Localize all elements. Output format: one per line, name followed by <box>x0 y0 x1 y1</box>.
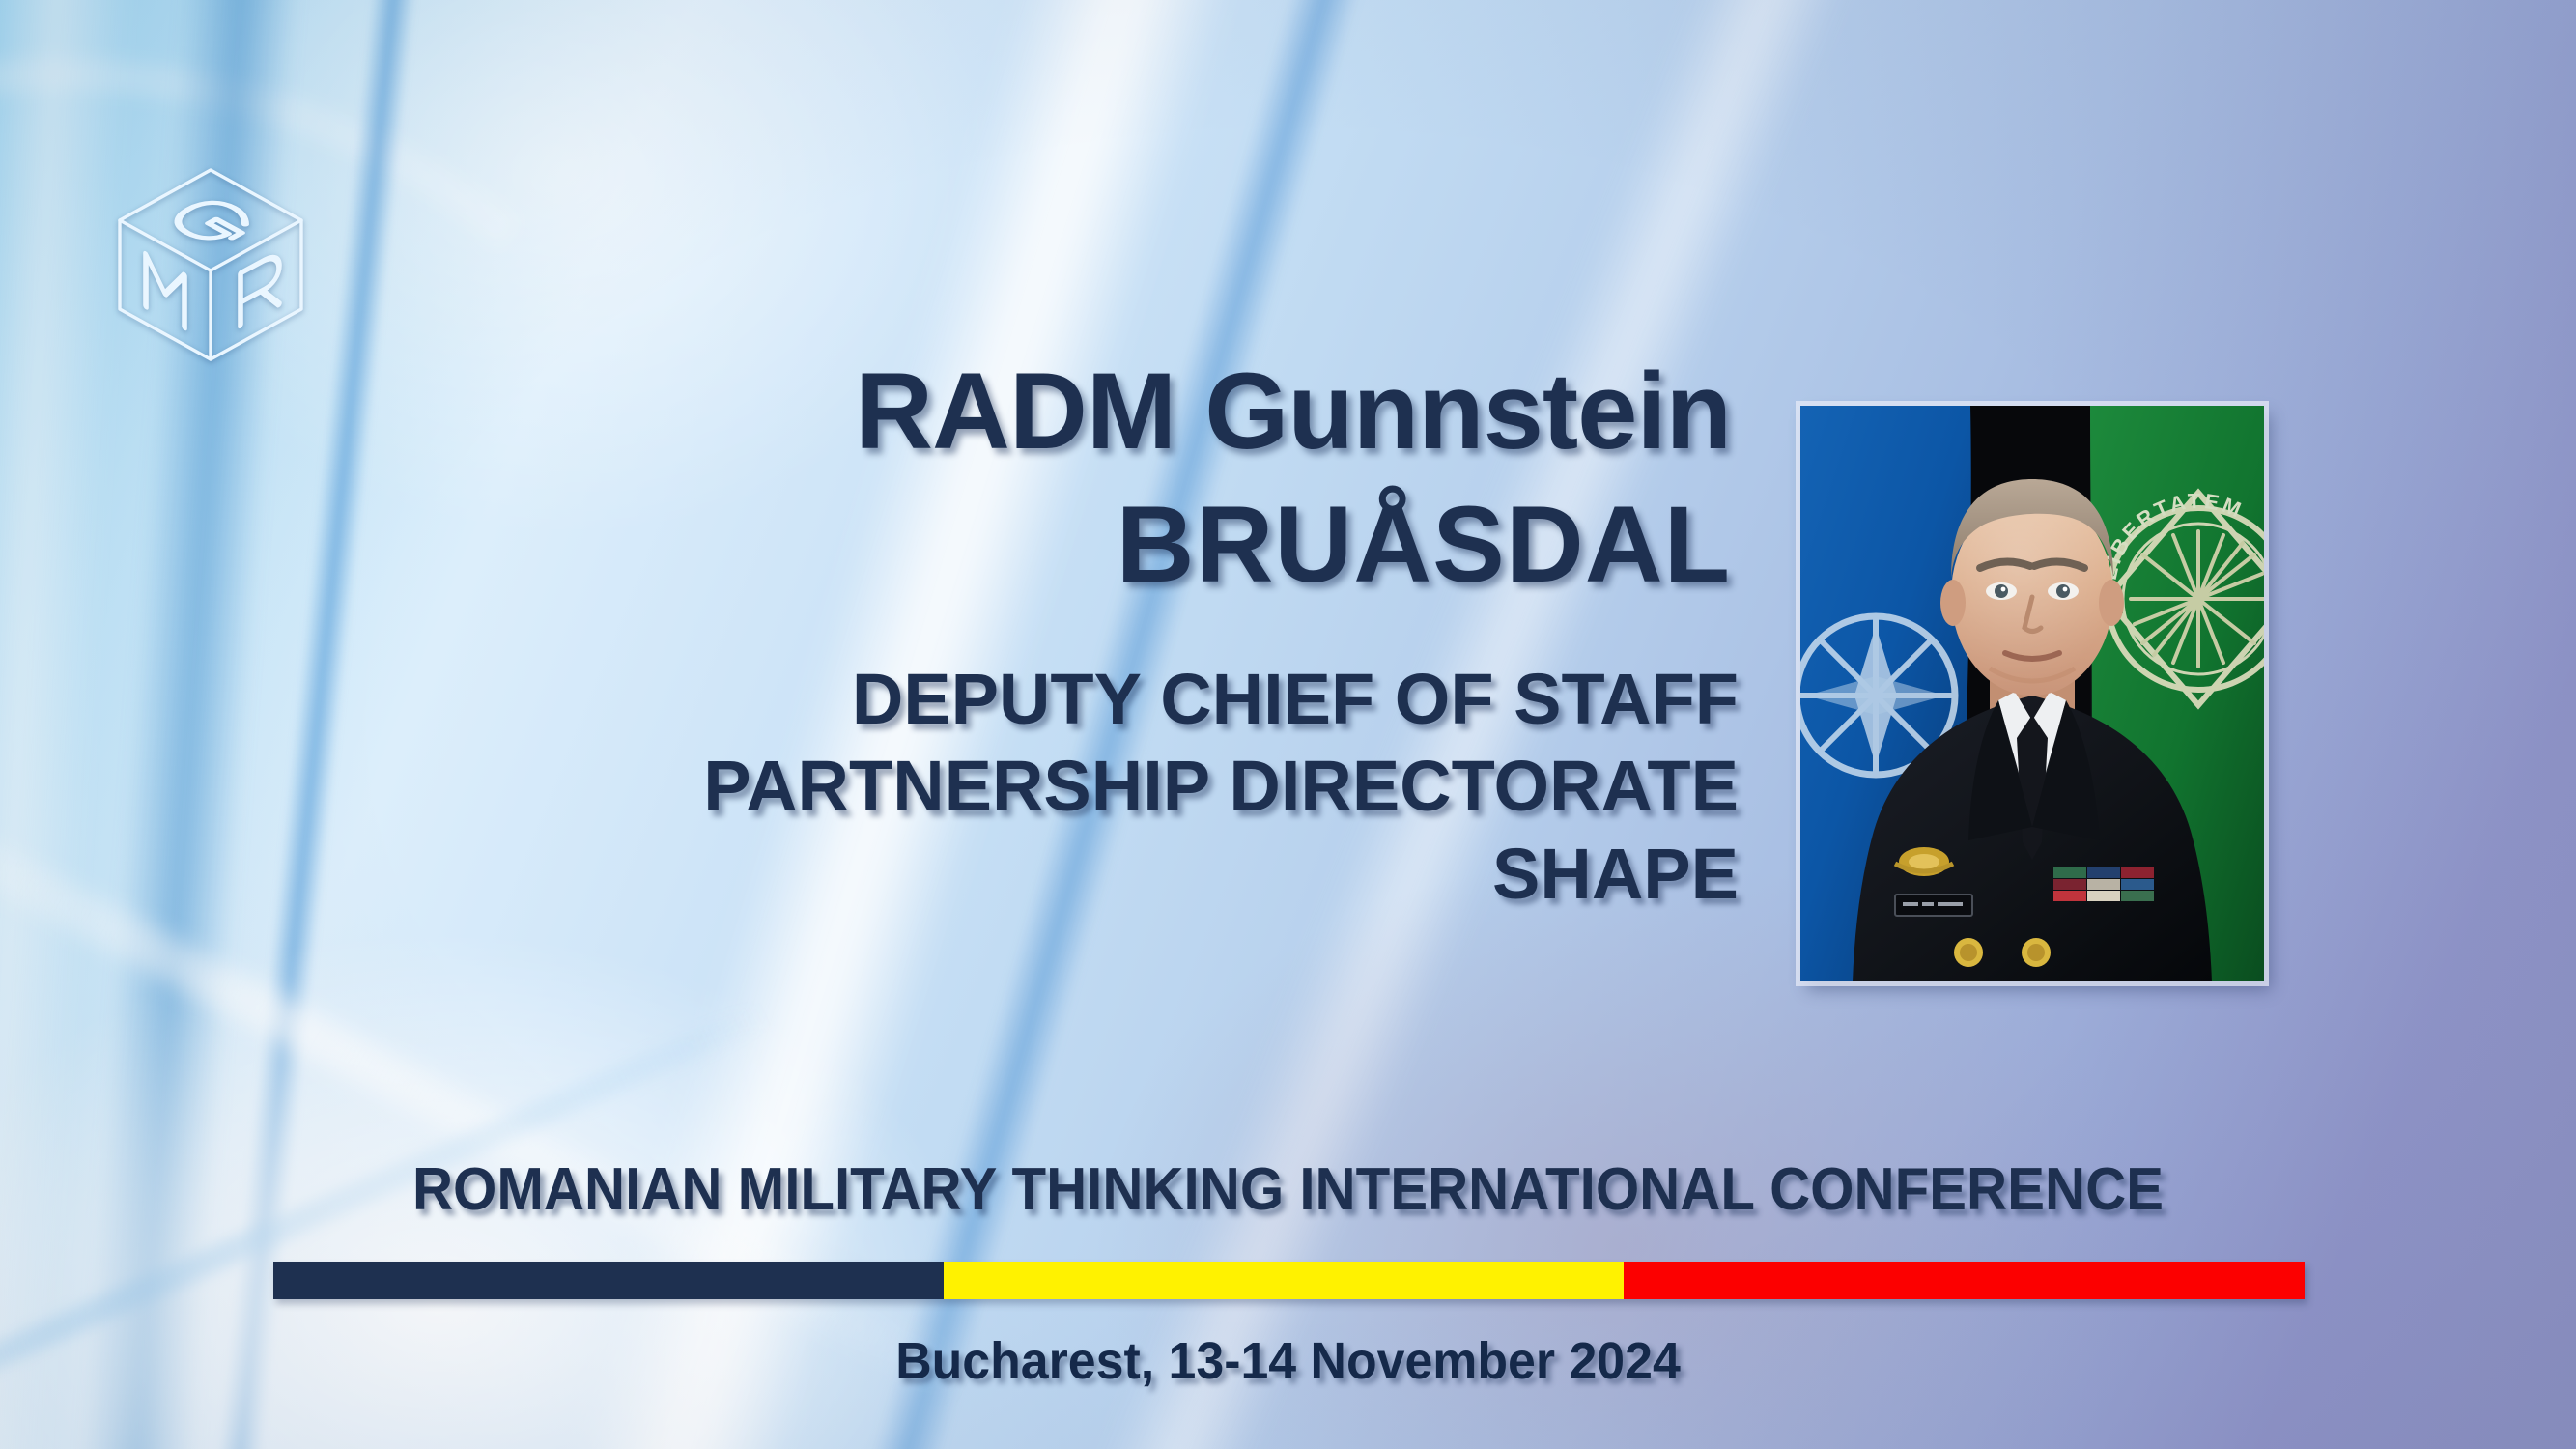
speaker-rank-and-first-name: RADM Gunnstein <box>193 357 1739 466</box>
conference-name: ROMANIAN MILITARY THINKING INTERNATIONAL… <box>77 1155 2499 1224</box>
speaker-surname: BRUÅSDAL <box>193 491 1739 599</box>
speaker-portrait: LIBERTATEM <box>1800 406 2264 981</box>
flag-segment-blue <box>273 1262 944 1299</box>
flag-segment-red <box>1624 1262 2305 1299</box>
speaker-text-block: RADM Gunnstein BRUÅSDAL DEPUTY CHIEF OF … <box>193 357 1739 915</box>
speaker-role-line-1: DEPUTY CHIEF OF STAFF <box>193 659 1739 740</box>
romanian-flag-bar <box>273 1262 2305 1299</box>
title-slide: RADM Gunnstein BRUÅSDAL DEPUTY CHIEF OF … <box>0 0 2576 1449</box>
speaker-role-line-3: SHAPE <box>193 834 1739 915</box>
flag-segment-yellow <box>944 1262 1625 1299</box>
speaker-role-line-2: PARTNERSHIP DIRECTORATE <box>193 746 1739 827</box>
conference-date-location: Bucharest, 13-14 November 2024 <box>51 1331 2524 1391</box>
speaker-portrait-image: LIBERTATEM <box>1800 406 2264 981</box>
gmr-cube-logo-icon <box>104 155 317 367</box>
